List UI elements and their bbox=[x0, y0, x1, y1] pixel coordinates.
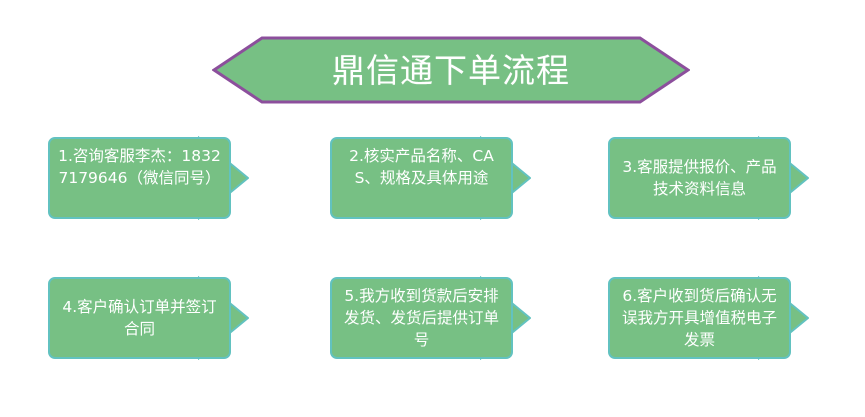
process-step-1-label: 1.咨询客服李杰：18327179646（微信同号） bbox=[50, 139, 229, 189]
process-step-3[interactable]: 3.客服提供报价、产品技术资料信息 bbox=[608, 137, 791, 219]
flowchart-canvas: 鼎信通下单流程 1.咨询客服李杰：18327179646（微信同号） 2.核实产… bbox=[0, 0, 865, 417]
process-step-6[interactable]: 6.客户收到货后确认无误我方开具增值税电子发票 bbox=[608, 277, 791, 359]
process-step-4[interactable]: 4.客户确认订单并签订合同 bbox=[48, 277, 231, 359]
process-step-6-label: 6.客户收到货后确认无误我方开具增值税电子发票 bbox=[610, 279, 789, 351]
process-step-4-label: 4.客户确认订单并签订合同 bbox=[50, 296, 229, 340]
process-step-3-body: 3.客服提供报价、产品技术资料信息 bbox=[608, 137, 791, 219]
process-step-2-body: 2.核实产品名称、CAS、规格及具体用途 bbox=[330, 137, 513, 219]
page-title: 鼎信通下单流程 bbox=[212, 36, 690, 104]
process-step-5-label: 5.我方收到货款后安排发货、发货后提供订单号 bbox=[332, 279, 511, 351]
process-step-1-body: 1.咨询客服李杰：18327179646（微信同号） bbox=[48, 137, 231, 219]
process-step-6-body: 6.客户收到货后确认无误我方开具增值税电子发票 bbox=[608, 277, 791, 359]
process-step-3-label: 3.客服提供报价、产品技术资料信息 bbox=[610, 156, 789, 200]
process-step-5-body: 5.我方收到货款后安排发货、发货后提供订单号 bbox=[330, 277, 513, 359]
process-step-5[interactable]: 5.我方收到货款后安排发货、发货后提供订单号 bbox=[330, 277, 513, 359]
process-step-2-label: 2.核实产品名称、CAS、规格及具体用途 bbox=[332, 139, 511, 189]
process-step-4-body: 4.客户确认订单并签订合同 bbox=[48, 277, 231, 359]
process-step-1[interactable]: 1.咨询客服李杰：18327179646（微信同号） bbox=[48, 137, 231, 219]
title-banner: 鼎信通下单流程 bbox=[212, 36, 690, 104]
process-step-2[interactable]: 2.核实产品名称、CAS、规格及具体用途 bbox=[330, 137, 513, 219]
